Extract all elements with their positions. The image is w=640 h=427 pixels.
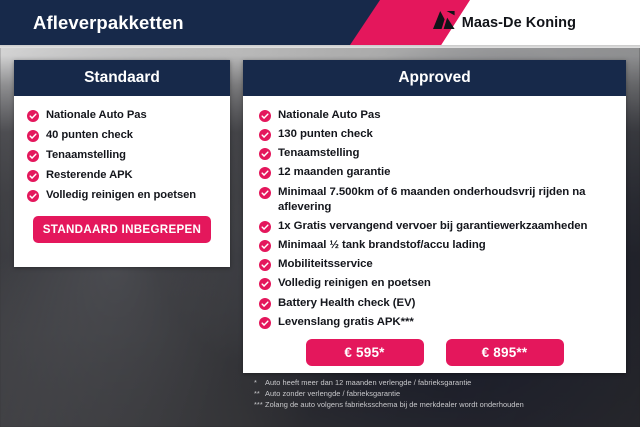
feature-label: Nationale Auto Pas: [278, 108, 380, 123]
feature-item: Volledig reinigen en poetsen: [259, 276, 610, 291]
feature-item: 1x Gratis vervangend vervoer bij garanti…: [259, 219, 610, 234]
feature-item: Minimaal 7.500km of 6 maanden onderhouds…: [259, 185, 610, 215]
check-circle-icon: [259, 240, 271, 252]
check-circle-icon: [27, 110, 39, 122]
footnote-marker: **: [243, 389, 265, 400]
check-circle-icon: [259, 259, 271, 271]
promo-slide: Afleverpakketten Maas-De Koning Standaar…: [0, 0, 640, 427]
footnote-text: Auto heeft meer dan 12 maanden verlengde…: [265, 378, 471, 389]
feature-label: Resterende APK: [46, 168, 133, 183]
check-circle-icon: [27, 150, 39, 162]
feature-item: Levenslang gratis APK***: [259, 315, 610, 330]
footnote-text: Zolang de auto volgens fabrieksschema bi…: [265, 400, 524, 411]
check-circle-icon: [259, 148, 271, 160]
feature-label: Volledig reinigen en poetsen: [46, 188, 196, 203]
feature-item: Tenaamstelling: [27, 148, 217, 163]
feature-label: Tenaamstelling: [278, 146, 359, 161]
footnotes: *Auto heeft meer dan 12 maanden verlengd…: [243, 378, 626, 411]
check-circle-icon: [259, 167, 271, 179]
feature-item: 130 punten check: [259, 127, 610, 142]
footnote-row: *Auto heeft meer dan 12 maanden verlengd…: [243, 378, 626, 389]
feature-item: Minimaal ½ tank brandstof/accu lading: [259, 238, 610, 253]
feature-label: Battery Health check (EV): [278, 296, 415, 311]
feature-label: Levenslang gratis APK***: [278, 315, 414, 330]
maas-m-logo-icon: [433, 11, 455, 34]
footnote-row: **Auto zonder verlengde / fabrieksgarant…: [243, 389, 626, 400]
feature-label: Minimaal ½ tank brandstof/accu lading: [278, 238, 486, 253]
feature-label: Mobiliteitsservice: [278, 257, 373, 272]
card-title-standaard: Standaard: [14, 60, 230, 96]
check-circle-icon: [259, 187, 271, 199]
card-body-approved: Nationale Auto Pas130 punten checkTenaam…: [243, 96, 626, 366]
price-button-row: € 595*€ 895**: [259, 339, 610, 366]
package-card-approved: Approved Nationale Auto Pas130 punten ch…: [243, 60, 626, 373]
feature-list-approved: Nationale Auto Pas130 punten checkTenaam…: [259, 108, 610, 330]
footnote-text: Auto zonder verlengde / fabrieksgarantie: [265, 389, 400, 400]
feature-label: Volledig reinigen en poetsen: [278, 276, 431, 291]
feature-label: 40 punten check: [46, 128, 133, 143]
feature-item: Nationale Auto Pas: [259, 108, 610, 123]
card-body-standaard: Nationale Auto Pas40 punten checkTenaams…: [14, 96, 230, 243]
price-button-1[interactable]: € 595*: [306, 339, 424, 366]
check-circle-icon: [27, 130, 39, 142]
package-card-standaard: Standaard Nationale Auto Pas40 punten ch…: [14, 60, 230, 267]
feature-item: Tenaamstelling: [259, 146, 610, 161]
page-header: Afleverpakketten Maas-De Koning: [0, 0, 640, 45]
footnote-row: ***Zolang de auto volgens fabrieksschema…: [243, 400, 626, 411]
brand-logo: Maas-De Koning: [433, 0, 576, 45]
footnote-marker: ***: [243, 400, 265, 411]
feature-label: Nationale Auto Pas: [46, 108, 147, 123]
card-title-approved: Approved: [243, 60, 626, 96]
feature-label: 12 maanden garantie: [278, 165, 390, 180]
feature-item: Resterende APK: [27, 168, 217, 183]
feature-item: Battery Health check (EV): [259, 296, 610, 311]
feature-item: 40 punten check: [27, 128, 217, 143]
page-title: Afleverpakketten: [33, 0, 184, 45]
feature-label: 1x Gratis vervangend vervoer bij garanti…: [278, 219, 587, 234]
brand-name-label: Maas-De Koning: [462, 15, 576, 31]
check-circle-icon: [259, 221, 271, 233]
check-circle-icon: [259, 278, 271, 290]
check-circle-icon: [259, 317, 271, 329]
feature-item: Volledig reinigen en poetsen: [27, 188, 217, 203]
feature-list-standaard: Nationale Auto Pas40 punten checkTenaams…: [27, 108, 217, 202]
feature-label: Tenaamstelling: [46, 148, 126, 163]
standaard-inbegrepen-button[interactable]: STANDAARD INBEGREPEN: [33, 216, 211, 243]
feature-label: Minimaal 7.500km of 6 maanden onderhouds…: [278, 185, 610, 215]
price-button-2[interactable]: € 895**: [446, 339, 564, 366]
feature-item: 12 maanden garantie: [259, 165, 610, 180]
feature-label: 130 punten check: [278, 127, 373, 142]
feature-item: Nationale Auto Pas: [27, 108, 217, 123]
header-divider: [0, 45, 640, 48]
check-circle-icon: [27, 170, 39, 182]
check-circle-icon: [27, 190, 39, 202]
footnote-marker: *: [243, 378, 265, 389]
feature-item: Mobiliteitsservice: [259, 257, 610, 272]
check-circle-icon: [259, 298, 271, 310]
check-circle-icon: [259, 110, 271, 122]
check-circle-icon: [259, 129, 271, 141]
